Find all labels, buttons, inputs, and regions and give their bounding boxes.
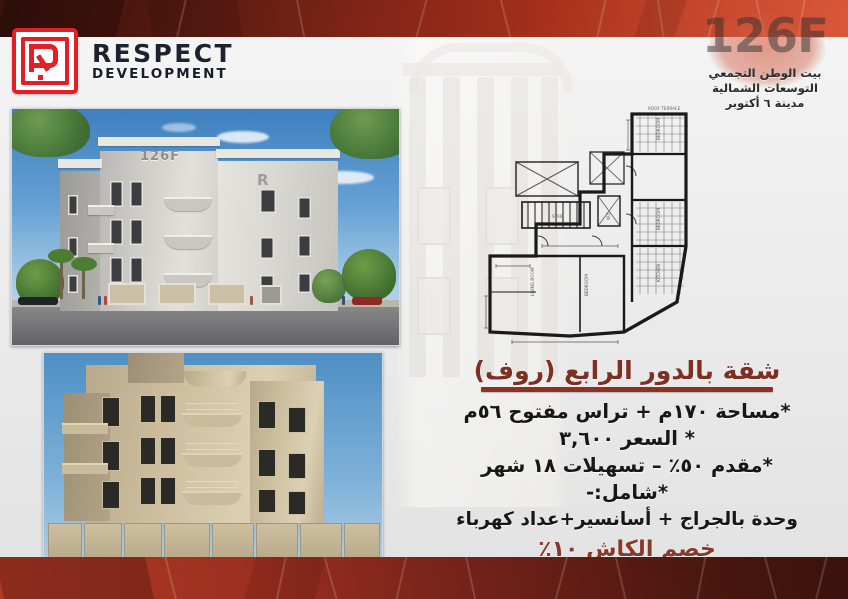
- svg-text:W.C: W.C: [606, 212, 611, 220]
- offer-line-payment: *مقدم ٥٠٪ – تسهيلات ١٨ شهر: [412, 452, 842, 479]
- project-stamp: 126F بيت الوطن التجمعي التوسعات الشمالية…: [690, 8, 840, 128]
- bottom-decorative-band: [0, 557, 848, 599]
- svg-text:BEDROOM: BEDROOM: [656, 118, 661, 140]
- offer-title: شقة بالدور الرابع (روف): [412, 356, 842, 386]
- project-code: 126F: [690, 8, 840, 66]
- offer-details: شقة بالدور الرابع (روف) *مساحة ١٧٠م + تر…: [412, 356, 842, 565]
- brand-logo: RESPECT DEVELOPMENT: [12, 28, 234, 94]
- respect-r-monogram-icon: [12, 28, 78, 94]
- brand-name: RESPECT: [92, 41, 234, 66]
- svg-text:ROOF TERRACE: ROOF TERRACE: [648, 106, 681, 111]
- svg-text:KITCHEN: KITCHEN: [656, 264, 661, 282]
- offer-line-price: * السعر ٣,٦٠٠: [412, 425, 842, 452]
- render-building-number: 126F: [140, 149, 180, 164]
- building-render-image: 126F R: [11, 108, 400, 346]
- svg-text:LIVING ROOM: LIVING ROOM: [530, 267, 535, 296]
- svg-text:BEDROOM: BEDROOM: [584, 274, 589, 296]
- project-location-line-2: التوسعات الشمالية: [690, 81, 840, 96]
- svg-text:STAIR: STAIR: [552, 214, 564, 219]
- project-location-line-3: مدينة ٦ أكتوبر: [690, 96, 840, 111]
- construction-site-image: [43, 352, 383, 580]
- title-underline: [481, 387, 773, 392]
- offer-line-includes-label: *شامل:-: [412, 479, 842, 506]
- floor-plan-drawing: LIVING ROOM BEDROOM BEDROOM BEDROOM KITC…: [472, 96, 698, 346]
- property-advertisement-poster: RESPECT DEVELOPMENT 126F بيت الوطن التجم…: [0, 0, 848, 599]
- brand-tagline: DEVELOPMENT: [92, 68, 234, 82]
- svg-text:BEDROOM: BEDROOM: [656, 208, 661, 230]
- offer-line-includes-detail: وحدة بالجراج + أسانسير+عداد كهرباء: [412, 506, 842, 533]
- render-logo-letter: R: [257, 171, 269, 189]
- project-location-line-1: بيت الوطن التجمعي: [690, 66, 840, 81]
- offer-line-area: *مساحة ١٧٠م + تراس مفتوح ٥٦م: [412, 398, 842, 425]
